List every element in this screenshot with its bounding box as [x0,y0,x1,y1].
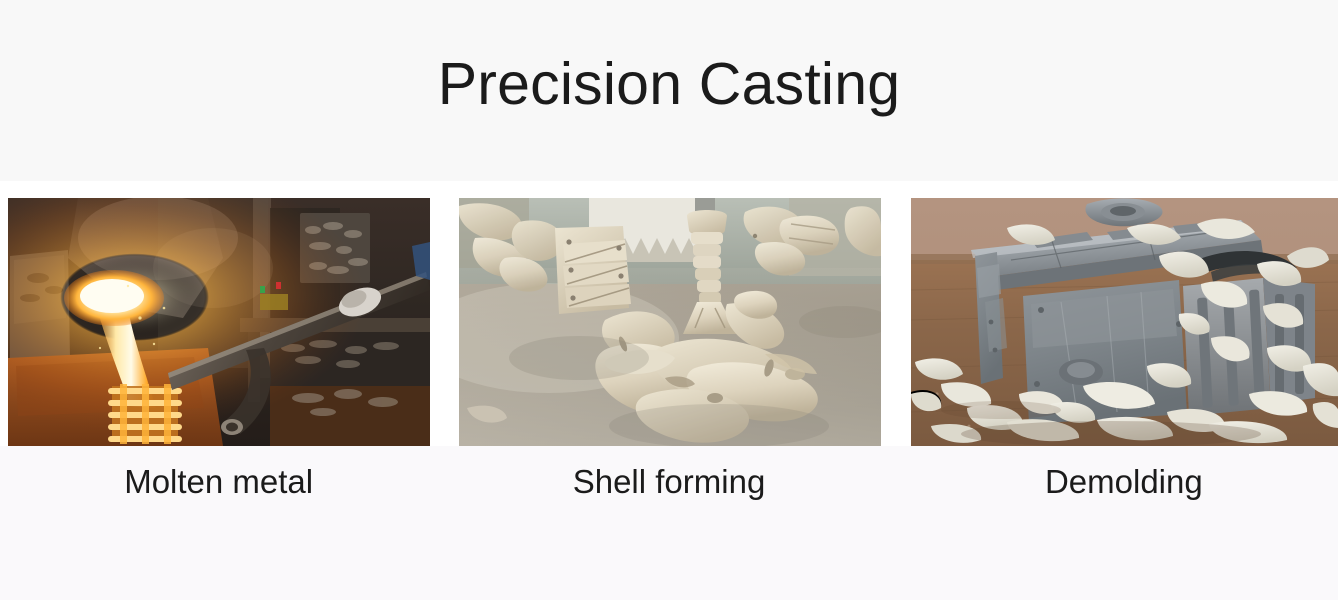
caption-molten-metal: Molten metal [8,446,429,501]
ceramic-shell-forming-photo[interactable] [459,198,881,446]
precision-casting-page: Precision Casting [0,0,1338,600]
caption-row: Molten metal Shell forming Demolding [0,446,1338,501]
molten-metal-pour-photo[interactable] [8,198,430,446]
gallery-strip [0,181,1338,446]
title-band: Precision Casting [0,0,1338,181]
caption-shell-forming: Shell forming [458,446,879,501]
gallery-item-molten-metal[interactable] [8,198,430,446]
demolding-casting-photo[interactable] [911,198,1338,446]
gallery-item-demolding[interactable] [911,198,1338,446]
page-title: Precision Casting [438,55,901,126]
caption-band: Molten metal Shell forming Demolding [0,446,1338,600]
caption-demolding: Demolding [910,446,1338,501]
gallery-item-shell-forming[interactable] [459,198,881,446]
gallery-row [0,181,1338,446]
